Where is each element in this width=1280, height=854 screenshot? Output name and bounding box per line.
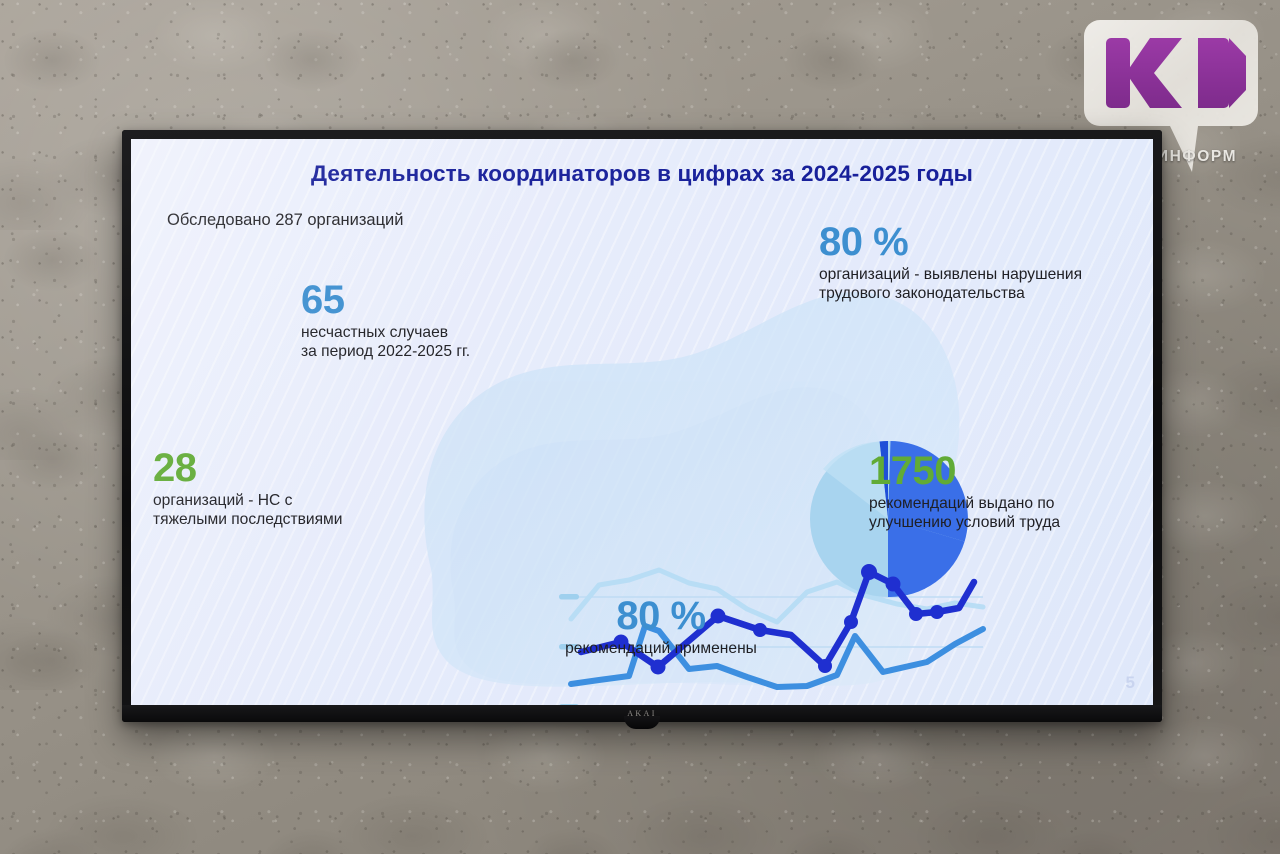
tv-screen: Деятельность координаторов в цифрах за 2… [131, 139, 1153, 705]
stat-value: 65 [301, 281, 470, 320]
stat-accidents: 65 несчастных случаев за период 2022-202… [301, 281, 470, 362]
presentation-slide: Деятельность координаторов в цифрах за 2… [131, 139, 1153, 705]
slide-number: 5 [1126, 673, 1135, 693]
stat-caption: рекомендаций выдано по улучшению условий… [869, 494, 1060, 532]
stat-value: 80 % [819, 223, 1082, 262]
stat-caption: несчастных случаев за период 2022-2025 г… [301, 323, 470, 361]
stat-caption: организаций - выявлены нарушения трудово… [819, 265, 1082, 303]
tv-display: Деятельность координаторов в цифрах за 2… [122, 130, 1162, 722]
stat-value: 28 [153, 449, 343, 488]
stat-caption: организаций - НС с тяжелыми последствиям… [153, 491, 343, 529]
stat-value: 1750 [869, 452, 1060, 491]
stat-value: 80 % [521, 597, 801, 636]
stat-organizations-violations: 80 % организаций - выявлены нарушения тр… [819, 223, 1082, 304]
intro-text: Обследовано 287 организаций [167, 211, 403, 230]
stat-recommendations-applied: 80 % рекомендаций применены [521, 597, 801, 658]
slide-title: Деятельность координаторов в цифрах за 2… [131, 161, 1153, 187]
stat-severe-consequences: 28 организаций - НС с тяжелыми последств… [153, 449, 343, 530]
stat-recommendations-issued: 1750 рекомендаций выдано по улучшению ус… [869, 452, 1060, 533]
stat-caption: рекомендаций применены [521, 639, 801, 658]
